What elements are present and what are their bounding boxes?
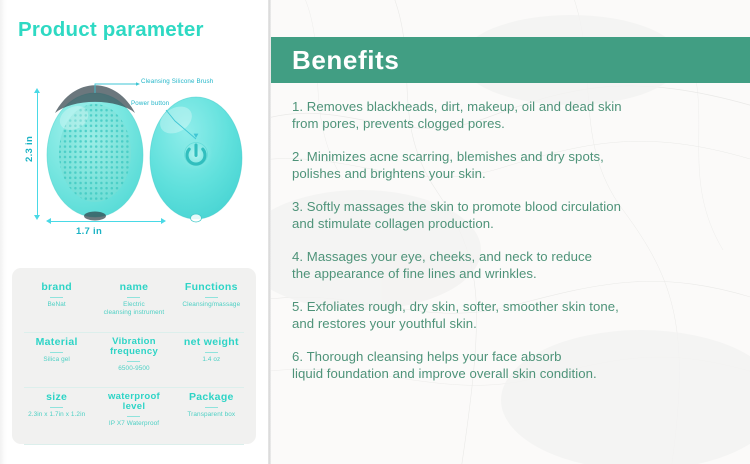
callout-cleansing-silicone-brush: Cleansing Silicone Brush bbox=[141, 78, 213, 85]
spec-key: brand bbox=[41, 282, 72, 293]
benefit-item: 5. Exfoliates rough, dry skin, softer, s… bbox=[292, 298, 740, 332]
spec-value: Silica gel bbox=[43, 356, 70, 364]
spec-cell-material: Material Silica gel bbox=[18, 332, 95, 387]
right-panel-benefits: Benefits 1. Removes blackheads, dirt, ma… bbox=[271, 0, 750, 464]
benefit-item: 1. Removes blackheads, dirt, makeup, oil… bbox=[292, 98, 740, 132]
spec-value: Transparent box bbox=[187, 411, 235, 419]
spec-key: Vibrationfrequency bbox=[110, 337, 158, 357]
benefits-heading: Benefits bbox=[292, 45, 399, 76]
spec-key: name bbox=[120, 282, 149, 293]
dimension-height-label: 2.3 in bbox=[24, 136, 35, 162]
dimension-height-line bbox=[37, 92, 38, 216]
spec-separator bbox=[50, 352, 63, 353]
spec-key: waterprooflevel bbox=[108, 392, 160, 412]
benefit-item: 4. Massages your eye, cheeks, and neck t… bbox=[292, 248, 740, 282]
device-back-view bbox=[150, 97, 242, 222]
spec-cell-net-weight: net weight 1.4 oz bbox=[173, 332, 250, 387]
spec-separator bbox=[127, 416, 140, 417]
spec-key: Functions bbox=[185, 282, 238, 293]
spec-value: IP X7 Waterproof bbox=[109, 420, 159, 428]
benefits-list: 1. Removes blackheads, dirt, makeup, oil… bbox=[292, 98, 740, 382]
benefits-header-band: Benefits bbox=[271, 37, 750, 83]
spec-cell-waterproof-level: waterprooflevel IP X7 Waterproof bbox=[95, 387, 172, 442]
spec-key: Package bbox=[189, 392, 234, 403]
benefit-item: 3. Softly massages the skin to promote b… bbox=[292, 198, 740, 232]
spec-value: Electriccleansing instrument bbox=[104, 301, 165, 317]
spec-separator bbox=[127, 361, 140, 362]
page-title: Product parameter bbox=[18, 18, 258, 42]
spec-row: Material Silica gel Vibrationfrequency 6… bbox=[18, 332, 250, 387]
spec-cell-package: Package Transparent box bbox=[173, 387, 250, 442]
spec-separator bbox=[205, 297, 218, 298]
spec-cell-vibration-frequency: Vibrationfrequency 6500-9500 bbox=[95, 332, 172, 387]
spec-row: brand BeNat name Electriccleansing instr… bbox=[18, 277, 250, 332]
spec-value: BeNat bbox=[48, 301, 66, 309]
spec-cell-size: size 2.3in x 1.7in x 1.2in bbox=[18, 387, 95, 442]
spec-separator bbox=[127, 297, 140, 298]
spec-separator bbox=[50, 407, 63, 408]
device-front-view bbox=[47, 85, 143, 220]
spec-value: 1.4 oz bbox=[202, 356, 220, 364]
spec-key: Material bbox=[36, 337, 78, 348]
benefit-item: 6. Thorough cleansing helps your face ab… bbox=[292, 348, 740, 382]
spec-separator bbox=[50, 297, 63, 298]
spec-separator bbox=[205, 352, 218, 353]
spec-separator bbox=[205, 407, 218, 408]
product-infographic: Product parameter bbox=[0, 0, 750, 464]
benefit-item: 2. Minimizes acne scarring, blemishes an… bbox=[292, 148, 740, 182]
spec-value: 6500-9500 bbox=[118, 365, 149, 373]
left-panel-product-parameter: Product parameter bbox=[0, 0, 268, 464]
spec-key: net weight bbox=[184, 337, 239, 348]
callout-power-button: Power button bbox=[131, 100, 169, 107]
spec-cell-brand: brand BeNat bbox=[18, 277, 95, 332]
spec-table: brand BeNat name Electriccleansing instr… bbox=[12, 268, 256, 444]
spec-row: size 2.3in x 1.7in x 1.2in waterprooflev… bbox=[18, 387, 250, 442]
spec-cell-functions: Functions Cleansing/massage bbox=[173, 277, 250, 332]
spec-cell-name: name Electriccleansing instrument bbox=[95, 277, 172, 332]
spec-value: 2.3in x 1.7in x 1.2in bbox=[28, 411, 85, 419]
dimension-width-label: 1.7 in bbox=[76, 226, 102, 237]
spec-value: Cleansing/massage bbox=[182, 301, 240, 309]
product-diagram: Cleansing Silicone Brush Power button 2.… bbox=[0, 66, 268, 246]
dimension-width-line bbox=[50, 221, 162, 222]
spec-key: size bbox=[46, 392, 67, 403]
